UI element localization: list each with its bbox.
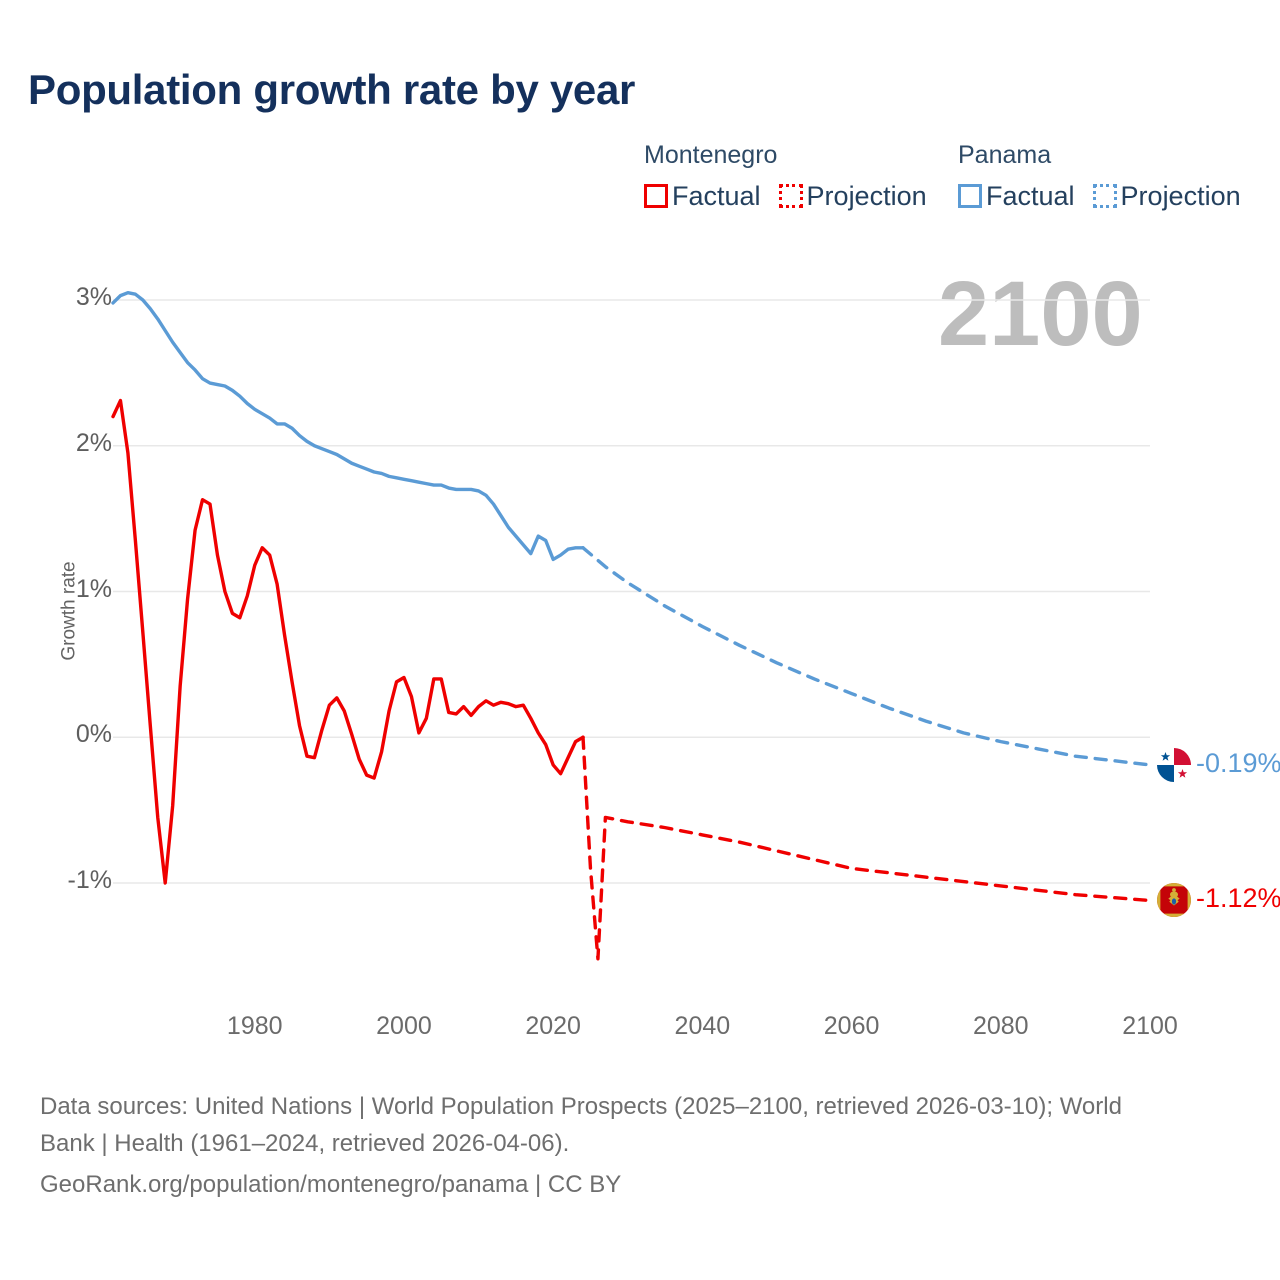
x-tick-label: 1980 — [227, 1012, 283, 1041]
x-tick-label: 2020 — [525, 1012, 581, 1041]
y-tick-label: 2% — [76, 429, 112, 458]
y-tick-label: 1% — [76, 575, 112, 604]
x-tick-label: 2080 — [973, 1012, 1029, 1041]
x-tick-label: 2040 — [675, 1012, 731, 1041]
footer-sources: Data sources: United Nations | World Pop… — [40, 1088, 1240, 1203]
y-tick-label: 0% — [76, 720, 112, 749]
y-tick-label: 3% — [76, 283, 112, 312]
panama-flag-icon — [1157, 748, 1191, 782]
y-tick-label: -1% — [68, 866, 112, 895]
footer-line-1: Data sources: United Nations | World Pop… — [40, 1088, 1240, 1125]
footer-line-3: GeoRank.org/population/montenegro/panama… — [40, 1166, 1240, 1203]
series-line-panama-factual — [113, 293, 583, 560]
series-line-montenegro-factual — [113, 401, 583, 883]
x-tick-label: 2100 — [1122, 1012, 1178, 1041]
panama-end-value-label: -0.19% — [1196, 748, 1280, 779]
chart-root: Population growth rate by year Montenegr… — [0, 0, 1280, 1280]
x-tick-label: 2060 — [824, 1012, 880, 1041]
footer-line-2: Bank | Health (1961–2024, retrieved 2026… — [40, 1125, 1240, 1162]
series-line-panama-projection — [583, 548, 1150, 765]
montenegro-end-value-label: -1.12% — [1196, 883, 1280, 914]
plot-area — [0, 0, 1280, 1000]
series-line-montenegro-projection — [583, 737, 1150, 959]
x-tick-label: 2000 — [376, 1012, 432, 1041]
